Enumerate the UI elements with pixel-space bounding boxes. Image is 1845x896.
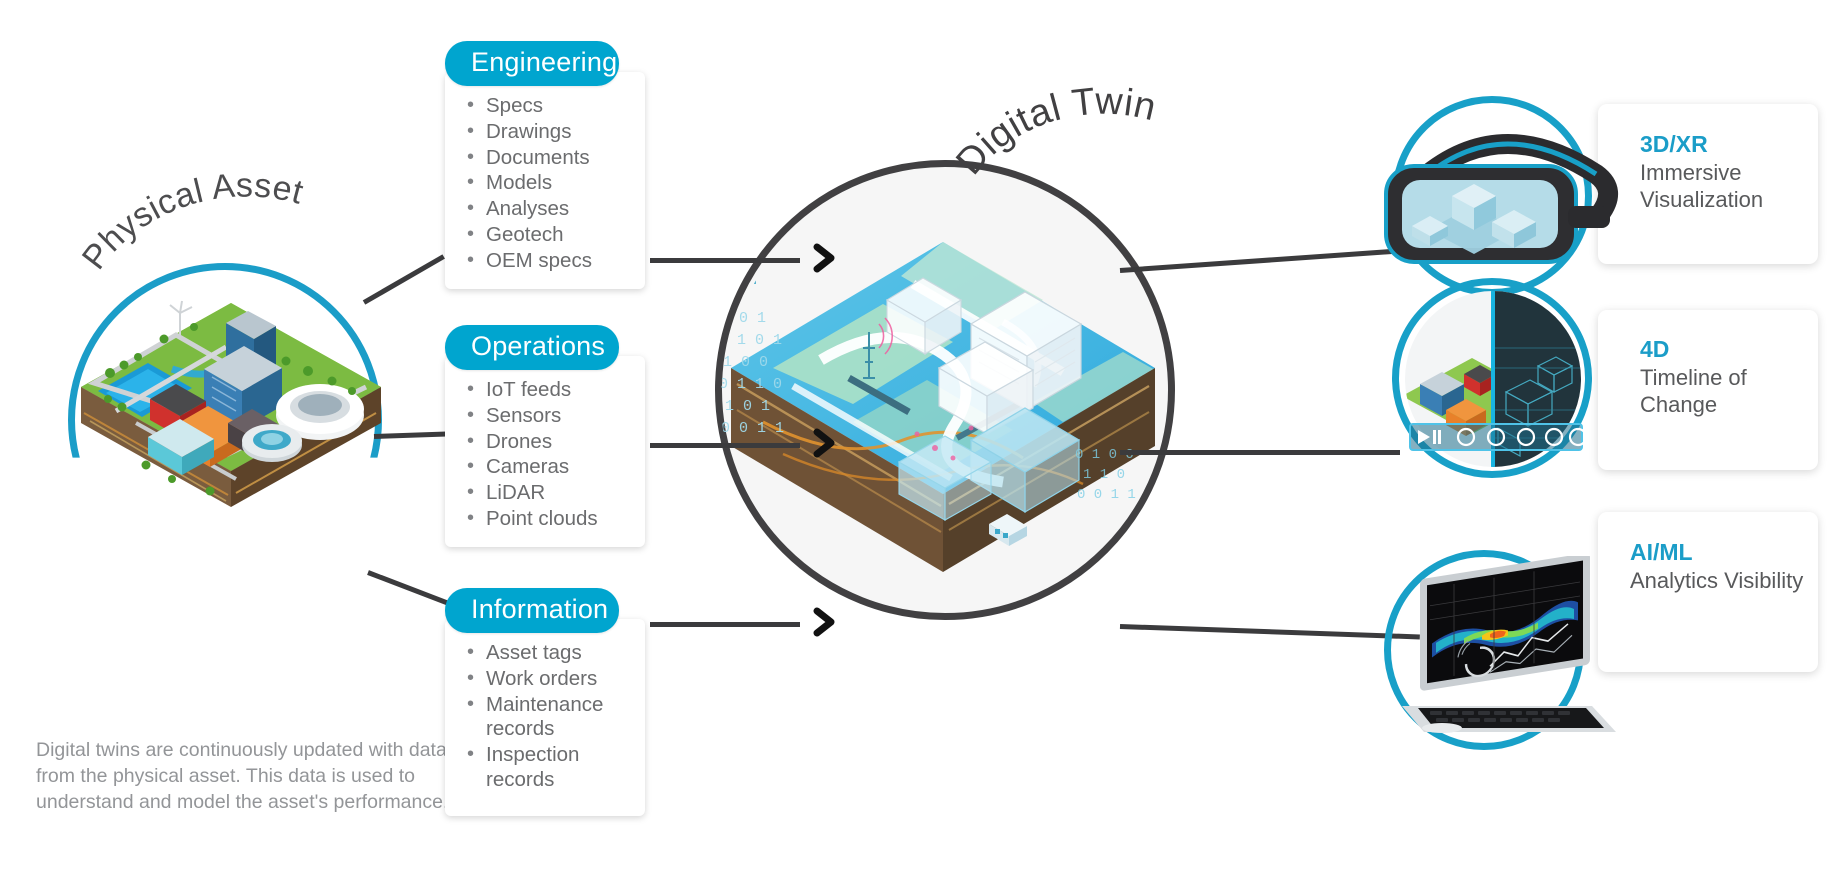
svg-text:0 1 1 0: 0 1 1 0 [719,376,782,393]
list-item: Drawings [461,120,635,145]
connector-operations-to-twin [650,443,800,448]
output-text-aiml: AI/ML Analytics Visibility [1630,538,1810,595]
card-engineering-title: Engineering [445,41,619,86]
output-title-xr: 3D/XR [1640,130,1810,158]
list-item: Models [461,171,635,196]
timeline-scrubber-icon [1402,288,1584,470]
card-engineering[interactable]: Engineering Specs Drawings Documents Mod… [445,41,645,289]
svg-text:0 0 1: 0 0 1 [721,310,766,327]
card-information[interactable]: Information Asset tags Work orders Maint… [445,588,645,816]
card-information-title: Information [445,588,619,633]
svg-text:1 1 0 1: 1 1 0 1 [719,332,782,349]
card-operations-body: IoT feeds Sensors Drones Cameras LiDAR P… [445,356,645,547]
list-item: OEM specs [461,249,635,274]
list-item: Geotech [461,223,635,248]
svg-text:0 0 1 1: 0 0 1 1 [1077,487,1136,503]
output-subtitle-aiml: Analytics Visibility [1630,568,1810,595]
chevron-right-icon-engineering [810,243,840,273]
list-item: Inspection records [461,743,635,793]
list-item: IoT feeds [461,378,635,403]
connector-engineering-to-twin [650,258,800,263]
vr-headset-icon [1368,118,1626,288]
connector-twin-to-4d [1120,450,1400,455]
list-item: Drones [461,430,635,455]
output-subtitle-xr: Immersive Visualization [1640,160,1810,213]
card-information-body: Asset tags Work orders Maintenance recor… [445,619,645,816]
laptop-analytics-icon [1378,556,1628,746]
list-item: Maintenance records [461,693,635,743]
chevron-right-icon-operations [810,428,840,458]
list-item: Cameras [461,455,635,480]
list-item: LiDAR [461,481,635,506]
digital-twin-isometric-model: 0 0 1 1 1 0 1 1 0 0 0 1 1 0 1 0 1 0 0 1 … [703,172,1183,642]
card-engineering-body: Specs Drawings Documents Models Analyses… [445,72,645,289]
output-title-aiml: AI/ML [1630,538,1810,566]
list-item: Analyses [461,197,635,222]
physical-asset-illustration [58,255,398,525]
connector-asset-to-information [367,570,455,608]
digital-twin-illustration: 0 0 1 1 1 0 1 1 0 0 0 1 1 0 1 0 1 0 0 1 … [715,160,1175,620]
caption-text: Digital twins are continuously updated w… [36,737,486,815]
connector-information-to-twin [650,622,800,627]
output-subtitle-4d: Timeline of Change [1640,365,1810,418]
output-title-4d: 4D [1640,335,1810,363]
svg-text:1 0 0: 1 0 0 [723,354,768,371]
list-item: Documents [461,146,635,171]
card-operations-title: Operations [445,325,619,370]
chevron-right-icon-information [810,607,840,637]
output-text-xr: 3D/XR Immersive Visualization [1640,130,1810,213]
list-item: Specs [461,94,635,119]
svg-text:1 0 1: 1 0 1 [725,398,770,415]
list-item: Sensors [461,404,635,429]
svg-text:0 0 1 1: 0 0 1 1 [721,420,784,437]
svg-text:1 1 0: 1 1 0 [1083,467,1125,483]
card-operations[interactable]: Operations IoT feeds Sensors Drones Came… [445,325,645,547]
list-item: Point clouds [461,507,635,532]
list-item: Asset tags [461,641,635,666]
list-item: Work orders [461,667,635,692]
infographic-canvas: Physical Asset [0,0,1845,896]
physical-asset-isometric-city [76,295,386,510]
output-text-4d: 4D Timeline of Change [1640,335,1810,418]
